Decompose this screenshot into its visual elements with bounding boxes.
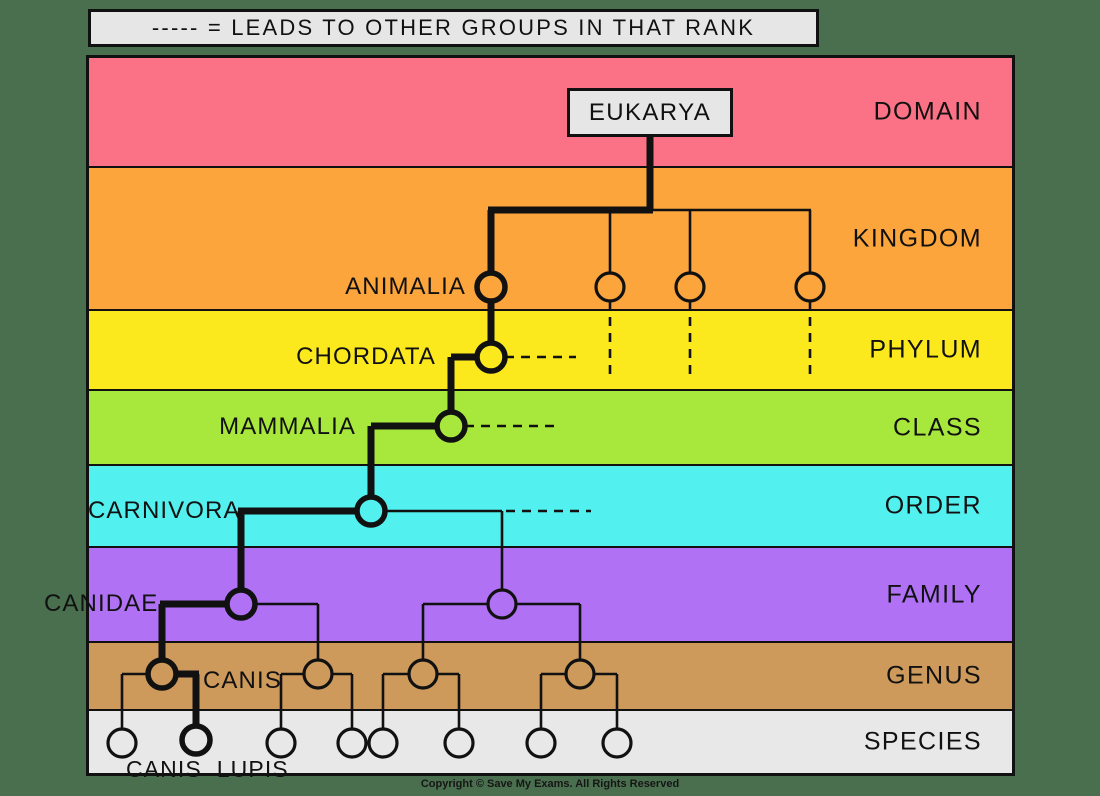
rank-band-kingdom: KINGDOM: [89, 168, 1012, 311]
taxon-label-canidae: CANIDAE: [44, 590, 158, 618]
taxon-label-chordata: CHORDATA: [296, 343, 436, 371]
taxon-label-animalia: ANIMALIA: [345, 273, 466, 301]
legend-text: ----- = LEADS TO OTHER GROUPS IN THAT RA…: [152, 15, 755, 41]
rank-label-kingdom: KINGDOM: [853, 224, 982, 253]
rank-label-family: FAMILY: [887, 580, 982, 609]
rank-band-family: FAMILY: [89, 548, 1012, 643]
taxon-label-canis: CANIS: [203, 667, 282, 695]
rank-band-domain: DOMAIN: [89, 58, 1012, 168]
rank-label-phylum: PHYLUM: [869, 336, 982, 365]
eukarya-node-box[interactable]: EUKARYA: [567, 88, 733, 137]
rank-band-phylum: PHYLUM: [89, 311, 1012, 391]
taxon-label-carnivora: CARNIVORA: [88, 497, 241, 525]
rank-label-order: ORDER: [885, 492, 982, 521]
rank-label-domain: DOMAIN: [874, 98, 982, 127]
eukarya-label: EUKARYA: [589, 99, 711, 127]
rank-label-species: SPECIES: [864, 728, 982, 757]
rank-label-genus: GENUS: [886, 662, 982, 691]
rank-label-class: CLASS: [893, 413, 982, 442]
copyright-notice: Copyright © Save My Exams. All Rights Re…: [0, 778, 1100, 790]
legend-box: ----- = LEADS TO OTHER GROUPS IN THAT RA…: [88, 9, 819, 47]
taxon-label-mammalia: MAMMALIA: [219, 413, 356, 441]
